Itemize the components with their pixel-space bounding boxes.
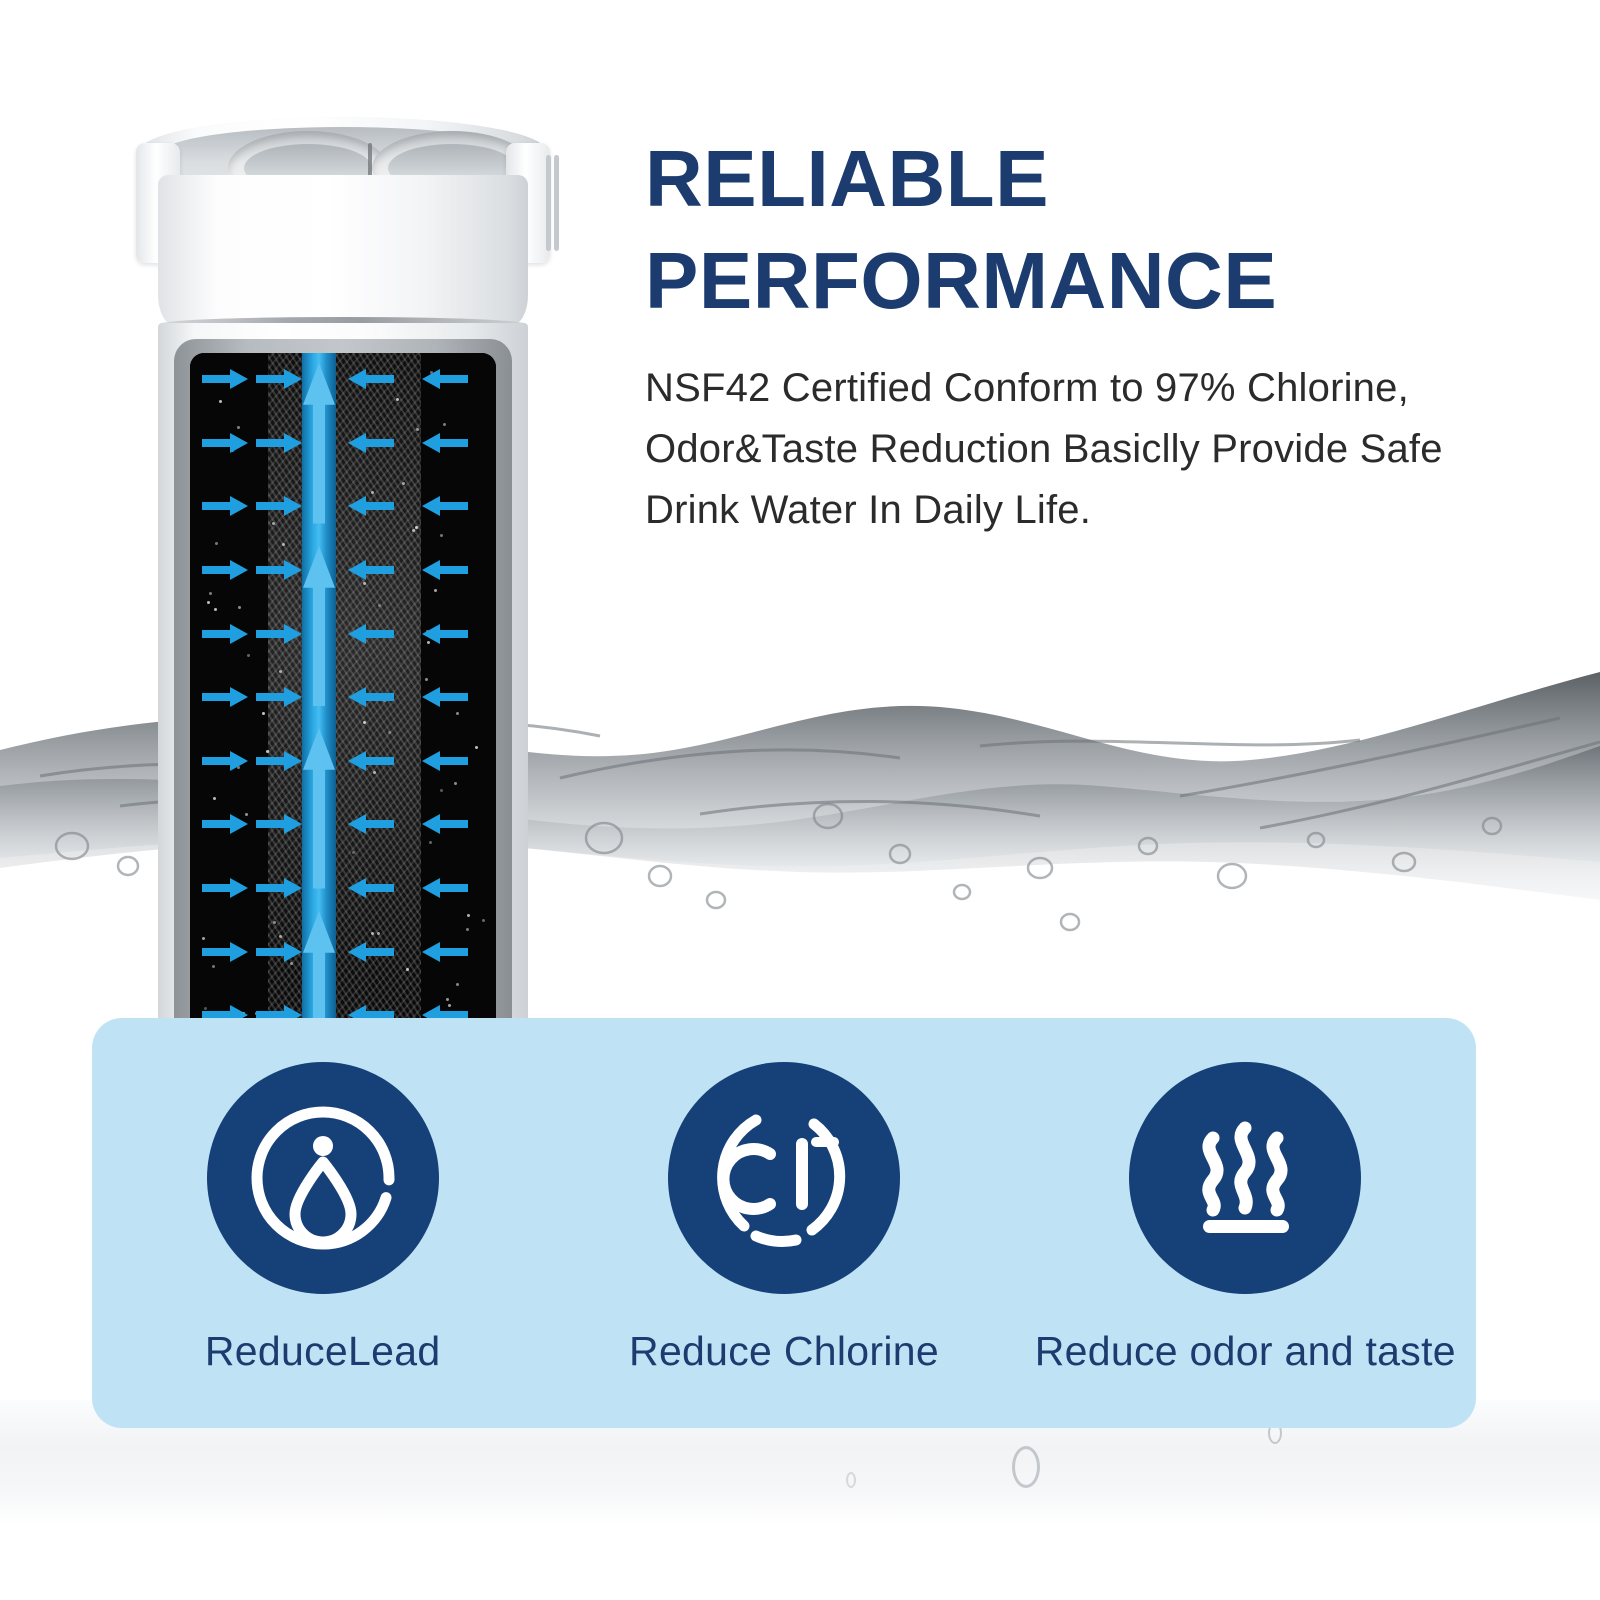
flow-arrow-left-icon	[348, 942, 394, 958]
flow-arrow-right-icon	[202, 942, 248, 958]
flow-arrow-right-icon	[256, 369, 302, 385]
flow-arrow-left-icon	[348, 560, 394, 576]
flow-arrow-left-icon	[422, 878, 468, 894]
water-filter-cartridge	[128, 55, 558, 1055]
feature-reduce-odor-taste[interactable]: Reduce odor and taste	[1015, 1018, 1476, 1428]
flow-arrow-left-icon	[348, 496, 394, 512]
flow-arrow-row	[190, 433, 496, 453]
carbon-speck	[272, 522, 275, 525]
carbon-speck	[282, 543, 285, 546]
flow-arrow-left-icon	[422, 942, 468, 958]
flow-arrow-row	[190, 942, 496, 962]
description-text: NSF42 Certified Conform to 97% Chlorine,…	[645, 358, 1505, 542]
flow-arrow-left-icon	[348, 624, 394, 640]
carbon-speck	[273, 921, 276, 924]
carbon-speck	[396, 398, 399, 401]
odor-steam-waves-icon	[1129, 1062, 1361, 1294]
page-title: RELIABLE PERFORMANCE	[645, 128, 1545, 333]
flow-arrow-row	[190, 624, 496, 644]
carbon-speck	[416, 428, 419, 431]
flow-arrow-left-icon	[348, 814, 394, 830]
flow-arrow-right-icon	[256, 751, 302, 767]
chlorine-cl-icon	[668, 1062, 900, 1294]
flow-arrow-left-icon	[348, 687, 394, 703]
carbon-speck	[454, 782, 457, 785]
headline-line-1: RELIABLE	[645, 134, 1049, 223]
flow-arrow-right-icon	[256, 624, 302, 640]
flow-arrow-row	[190, 369, 496, 389]
bubble-icon	[846, 1472, 856, 1488]
flow-arrow-left-icon	[422, 624, 468, 640]
carbon-speck	[212, 965, 215, 968]
product-marketing-image: RELIABLE PERFORMANCE NSF42 Certified Con…	[0, 0, 1600, 1600]
flow-arrow-right-icon	[202, 878, 248, 894]
carbon-speck	[377, 932, 380, 935]
flow-arrow-right-icon	[256, 560, 302, 576]
flow-arrow-right-icon	[202, 687, 248, 703]
flow-arrow-row	[190, 560, 496, 580]
water-drop-in-circle-icon	[207, 1062, 439, 1294]
headline-line-2: PERFORMANCE	[645, 230, 1545, 332]
carbon-speck	[262, 712, 265, 715]
flow-arrow-right-icon	[256, 942, 302, 958]
flow-arrow-right-icon	[256, 814, 302, 830]
flow-arrow-right-icon	[202, 814, 248, 830]
flow-arrow-right-icon	[202, 496, 248, 512]
flow-arrow-right-icon	[256, 496, 302, 512]
carbon-texture-right	[325, 353, 421, 1083]
carbon-speck	[434, 589, 437, 592]
flow-arrow-right-icon	[202, 624, 248, 640]
feature-label: Reduce odor and taste	[1035, 1328, 1456, 1375]
carbon-speck	[443, 423, 446, 426]
carbon-speck	[371, 932, 374, 935]
flow-arrow-left-icon	[422, 814, 468, 830]
flow-arrow-row	[190, 814, 496, 834]
flow-arrow-left-icon	[422, 560, 468, 576]
feature-reduce-chlorine[interactable]: Reduce Chlorine	[553, 1018, 1014, 1428]
cap-collar	[158, 175, 528, 325]
feature-label: ReduceLead	[205, 1328, 441, 1375]
flow-arrow-left-icon	[422, 687, 468, 703]
flow-arrow-right-icon	[256, 687, 302, 703]
flow-arrow-row	[190, 496, 496, 516]
flow-arrow-right-icon	[202, 433, 248, 449]
flow-arrow-left-icon	[422, 496, 468, 512]
cap-ridge	[554, 155, 559, 251]
flow-arrow-right-icon	[256, 878, 302, 894]
features-list: ReduceLead Reduce Chl	[92, 1018, 1476, 1428]
flow-arrow-right-icon	[202, 560, 248, 576]
flow-arrow-left-icon	[422, 433, 468, 449]
carbon-speck	[219, 400, 222, 403]
carbon-speck	[279, 670, 282, 673]
flow-arrow-left-icon	[348, 878, 394, 894]
features-panel: ReduceLead Reduce Chl	[92, 1018, 1476, 1428]
feature-label: Reduce Chlorine	[629, 1328, 939, 1375]
bubble-icon	[1012, 1446, 1040, 1488]
flow-arrow-left-icon	[348, 369, 394, 385]
flow-arrow-row	[190, 878, 496, 898]
carbon-speck	[378, 604, 381, 607]
flow-arrow-left-icon	[348, 751, 394, 767]
flow-arrow-right-icon	[202, 751, 248, 767]
carbon-speck	[482, 919, 485, 922]
flow-arrow-right-icon	[256, 433, 302, 449]
flow-arrow-right-icon	[202, 369, 248, 385]
flow-arrow-left-icon	[348, 433, 394, 449]
flow-arrow-row	[190, 687, 496, 707]
cap-ridge	[546, 155, 551, 251]
carbon-speck	[388, 731, 391, 734]
flow-arrow-left-icon	[422, 369, 468, 385]
carbon-speck	[415, 526, 418, 529]
feature-reduce-lead[interactable]: ReduceLead	[92, 1018, 553, 1428]
cutaway-window	[190, 353, 496, 1083]
flow-arrow-row	[190, 751, 496, 771]
flow-arrow-left-icon	[422, 751, 468, 767]
carbon-speck	[215, 542, 218, 545]
carbon-speck	[466, 928, 469, 931]
carbon-speck	[247, 654, 250, 657]
